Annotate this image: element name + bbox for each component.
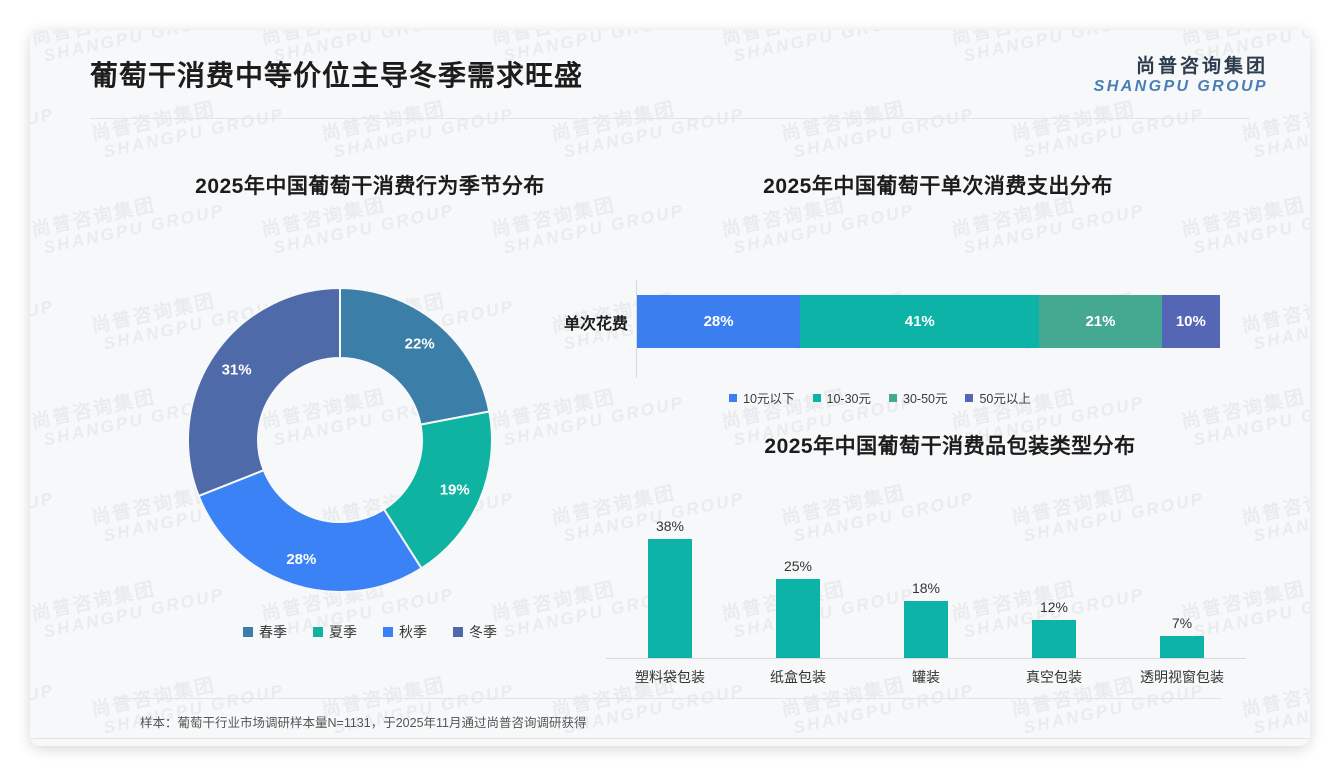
legend-item[interactable]: 冬季 (453, 622, 497, 642)
stacked-bar-track: 28%41%21%10% (637, 295, 1220, 348)
bar-column: 18% (862, 508, 990, 658)
donut-slice-label: 22% (405, 336, 435, 353)
donut-slice-label: 28% (286, 551, 316, 568)
donut-chart-title: 2025年中国葡萄干消费行为季节分布 (110, 170, 630, 200)
bar-category-label: 罐装 (862, 667, 990, 687)
legend-label: 50元以上 (979, 388, 1030, 407)
packaging-bar-chart: 38%25%18%12%7% 塑料袋包装纸盒包装罐装真空包装透明视窗包装 (570, 480, 1260, 695)
stacked-bar-segment: 41% (800, 295, 1039, 348)
brand-logo: 尚普咨询集团 SHANGPU GROUP (1094, 56, 1268, 96)
stacked-bar-segment: 10% (1162, 295, 1220, 348)
bar-category-label: 真空包装 (990, 667, 1118, 687)
page-title: 葡萄干消费中等价位主导冬季需求旺盛 (90, 54, 583, 94)
bar-value-label: 25% (784, 558, 812, 574)
legend-item[interactable]: 秋季 (383, 622, 427, 642)
legend-label: 夏季 (329, 622, 357, 642)
donut-slice-label: 31% (222, 362, 252, 379)
legend-label: 30-50元 (903, 388, 947, 407)
legend-swatch-icon (889, 394, 897, 402)
legend-swatch-icon (243, 627, 253, 637)
legend-label: 冬季 (469, 622, 497, 642)
donut-slice (199, 470, 422, 592)
bar-rect (904, 601, 948, 658)
legend-label: 秋季 (399, 622, 427, 642)
donut-slice (188, 288, 340, 496)
header: 葡萄干消费中等价位主导冬季需求旺盛 尚普咨询集团 SHANGPU GROUP (30, 30, 1310, 118)
bar-chart-title: 2025年中国葡萄干消费品包装类型分布 (690, 430, 1210, 460)
legend-item[interactable]: 50元以上 (965, 388, 1030, 407)
logo-chinese-text: 尚普咨询集团 (1094, 56, 1268, 78)
legend-swatch-icon (813, 394, 821, 402)
stacked-bar-chart-legend: 10元以下10-30元30-50元50元以上 (500, 388, 1260, 407)
donut-chart-svg: 22%19%28%31% (180, 280, 500, 600)
legend-swatch-icon (729, 394, 737, 402)
legend-label: 10-30元 (827, 388, 871, 407)
legend-swatch-icon (383, 627, 393, 637)
bar-rect (648, 539, 692, 658)
bar-column: 38% (606, 508, 734, 658)
legend-item[interactable]: 10-30元 (813, 388, 871, 407)
bar-column: 12% (990, 508, 1118, 658)
donut-slice-label: 19% (440, 482, 470, 499)
legend-label: 春季 (259, 622, 287, 642)
logo-english-text: SHANGPU GROUP (1094, 78, 1268, 96)
footnote-divider (118, 698, 1222, 699)
bar-column: 7% (1118, 508, 1246, 658)
watermark-text: 尚普咨询集团SHANGPU GROUP (30, 278, 56, 355)
bar-category-label: 透明视窗包装 (1118, 667, 1246, 687)
footer-divider (30, 738, 1310, 739)
bar-rect (1160, 636, 1204, 658)
stacked-bar-segment: 21% (1039, 295, 1161, 348)
stacked-bar-chart-title: 2025年中国葡萄干单次消费支出分布 (678, 170, 1198, 200)
legend-swatch-icon (453, 627, 463, 637)
watermark-text: 尚普咨询集团SHANGPU GROUP (30, 662, 56, 739)
bar-value-label: 18% (912, 580, 940, 596)
bar-rect (776, 579, 820, 658)
bar-column: 25% (734, 508, 862, 658)
bar-value-label: 38% (656, 518, 684, 534)
legend-swatch-icon (965, 394, 973, 402)
stacked-bar-row-label: 单次花费 (500, 310, 628, 334)
footnote-text: 样本：葡萄干行业市场调研样本量N=1131，于2025年11月通过尚普咨询调研获… (140, 712, 587, 731)
header-divider (90, 118, 1250, 119)
bar-value-label: 7% (1172, 615, 1192, 631)
bar-category-label: 纸盒包装 (734, 667, 862, 687)
legend-item[interactable]: 30-50元 (889, 388, 947, 407)
bar-value-label: 12% (1040, 599, 1068, 615)
bar-category-label: 塑料袋包装 (606, 667, 734, 687)
bar-rect (1032, 620, 1076, 658)
watermark-text: 尚普咨询集团SHANGPU GROUP (30, 470, 56, 547)
donut-slice (340, 288, 489, 425)
bar-chart-bars: 38%25%18%12%7% (606, 508, 1246, 658)
donut-chart-legend: 春季夏季秋季冬季 (90, 622, 650, 642)
bar-chart-baseline (606, 658, 1246, 659)
slide-card: 尚普咨询集团SHANGPU GROUP尚普咨询集团SHANGPU GROUP尚普… (30, 30, 1310, 746)
legend-label: 10元以下 (743, 388, 794, 407)
legend-item[interactable]: 春季 (243, 622, 287, 642)
bar-chart-category-labels: 塑料袋包装纸盒包装罐装真空包装透明视窗包装 (606, 667, 1246, 687)
watermark-text: 尚普咨询集团SHANGPU GROUP (1180, 182, 1310, 259)
legend-item[interactable]: 10元以下 (729, 388, 794, 407)
stacked-bar-segment: 28% (637, 295, 800, 348)
legend-swatch-icon (313, 627, 323, 637)
legend-item[interactable]: 夏季 (313, 622, 357, 642)
